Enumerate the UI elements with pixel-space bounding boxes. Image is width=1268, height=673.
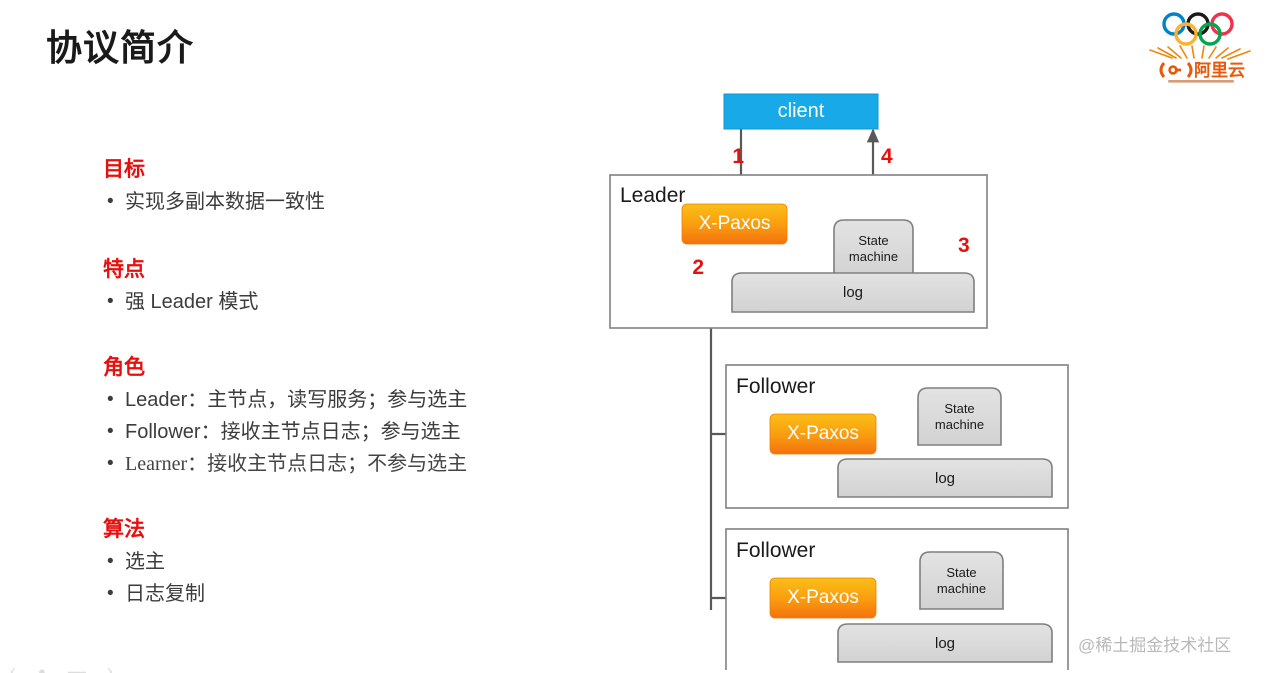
logo-brand-text: 阿里云 (1194, 61, 1245, 80)
list-item-label: 选主 (125, 547, 165, 577)
leader-state-machine-box (834, 220, 913, 278)
leader-log-box (732, 273, 974, 312)
architecture-diagram: client Leader X-Paxos State machine log … (600, 80, 1100, 670)
aliyun-wordmark-icon (1161, 63, 1191, 77)
bullet-icon: • (103, 547, 125, 577)
player-controls[interactable]: ‹ ● — › (10, 660, 210, 673)
alibaba-cloud-olympic-logo: 阿里云 (1142, 6, 1260, 86)
list-item: • 选主 (103, 547, 205, 577)
prev-button[interactable]: ‹ (10, 661, 16, 673)
list-item-label: Learner：接收主节点日志；不参与选主 (125, 449, 467, 479)
list-item: • Leader：主节点，读写服务；参与选主 (103, 385, 467, 415)
follower1-log-box (838, 459, 1052, 497)
follower1-state-machine-box (918, 388, 1001, 445)
play-button[interactable]: ● (38, 664, 46, 673)
bullet-icon: • (103, 579, 125, 609)
bullet-icon: • (103, 287, 125, 317)
bullet-icon: • (103, 187, 125, 217)
list-item-label: 实现多副本数据一致性 (125, 187, 325, 217)
list-item-label: Leader：主节点，读写服务；参与选主 (125, 385, 467, 415)
progress-bar[interactable]: — (68, 661, 85, 673)
olympic-rings-icon (1164, 14, 1232, 44)
section-heading: 目标 (103, 158, 325, 181)
follower2-log-box (838, 624, 1052, 662)
list-item: • 强 Leader 模式 (103, 287, 258, 317)
next-button[interactable]: › (107, 661, 113, 673)
section-goal: 目标 • 实现多副本数据一致性 (103, 158, 325, 219)
section-heading: 角色 (103, 356, 467, 379)
list-item-label: 强 Leader 模式 (125, 287, 258, 317)
list-item-label: Follower：接收主节点日志；参与选主 (125, 417, 461, 447)
list-item: • 日志复制 (103, 579, 205, 609)
ray-burst-icon (1150, 46, 1250, 59)
bullet-icon: • (103, 449, 125, 479)
leader-xpaxos-box (682, 204, 787, 244)
list-item: • 实现多副本数据一致性 (103, 187, 325, 217)
client-box (724, 94, 878, 129)
follower2-xpaxos-box (770, 578, 876, 618)
section-algorithm: 算法 • 选主 • 日志复制 (103, 518, 205, 611)
section-roles: 角色 • Leader：主节点，读写服务；参与选主 • Follower：接收主… (103, 356, 467, 481)
logo-tagline (1168, 80, 1234, 83)
section-heading: 算法 (103, 518, 205, 541)
list-item-label: 日志复制 (125, 579, 205, 609)
follower1-xpaxos-box (770, 414, 876, 454)
page-title: 协议简介 (46, 19, 194, 71)
watermark: @稀土掘金技术社区 (1078, 631, 1231, 656)
bullet-icon: • (103, 385, 125, 415)
logo-svg: 阿里云 (1142, 6, 1260, 86)
list-item: • Learner：接收主节点日志；不参与选主 (103, 449, 467, 479)
bullet-icon: • (103, 417, 125, 447)
slide-canvas: 协议简介 (0, 0, 1268, 673)
section-heading: 特点 (103, 258, 258, 281)
follower2-state-machine-box (920, 552, 1003, 609)
section-feature: 特点 • 强 Leader 模式 (103, 258, 258, 319)
list-item: • Follower：接收主节点日志；参与选主 (103, 417, 467, 447)
